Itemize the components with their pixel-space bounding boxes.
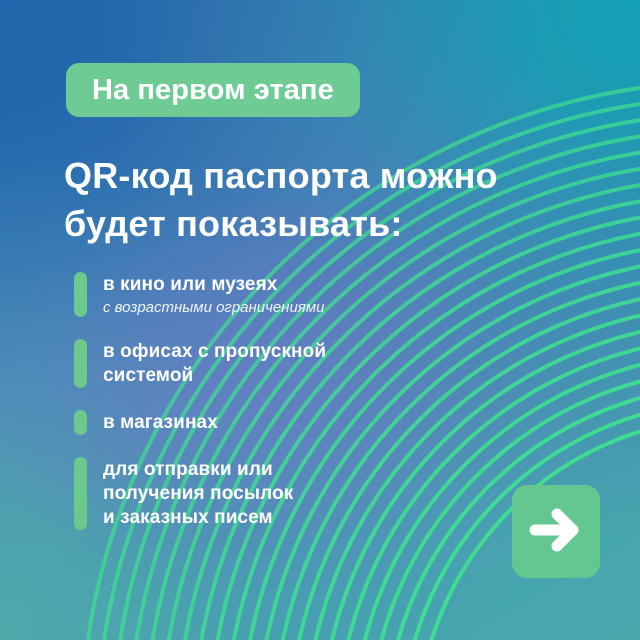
list-item: в офисах с пропускной системой [74,339,414,388]
list-item-body: в магазинах [103,410,414,435]
headline-line-2: будет показывать: [64,200,584,248]
list-item-title: в кино или музеях [103,273,414,297]
headline: QR-код паспорта можно будет показывать: [64,152,584,248]
stage-badge: На первом этапе [66,63,360,117]
list-item-subtitle: с возрастными ограничениями [103,298,414,318]
infographic-poster: На первом этапе QR-код паспорта можно бу… [0,0,640,640]
list-item-title-line: в кино или музеях [103,273,414,297]
list-item-title-line: в офисах с пропускной [103,340,414,364]
list-item-body: в офисах с пропускной системой [103,339,414,388]
list-item: в магазинах [74,410,414,435]
list-item-body: для отправки или получения посылок и зак… [103,457,414,530]
list-item-accent-bar [74,410,87,435]
stage-badge-label: На первом этапе [92,76,334,105]
arrow-right-icon [528,506,584,557]
list-item-title-line: системой [103,364,414,388]
list-item-accent-bar [74,339,87,388]
list-item-title-line: в магазинах [103,411,414,435]
list-item-title-line: получения посылок [103,482,414,506]
list-item: для отправки или получения посылок и зак… [74,457,414,530]
list-item-title-line: для отправки или [103,458,414,482]
list-item: в кино или музеях с возрастными ограниче… [74,272,414,317]
list-item-title: в магазинах [103,411,414,435]
list-item-title: в офисах с пропускной системой [103,340,414,388]
list-item-body: в кино или музеях с возрастными ограниче… [103,272,414,317]
list-item-title: для отправки или получения посылок и зак… [103,458,414,530]
headline-line-1: QR-код паспорта можно [64,152,584,200]
next-button[interactable] [512,485,600,578]
usage-list: в кино или музеях с возрастными ограниче… [74,272,414,552]
list-item-title-line: и заказных писем [103,506,414,530]
list-item-accent-bar [74,457,87,530]
list-item-accent-bar [74,272,87,317]
